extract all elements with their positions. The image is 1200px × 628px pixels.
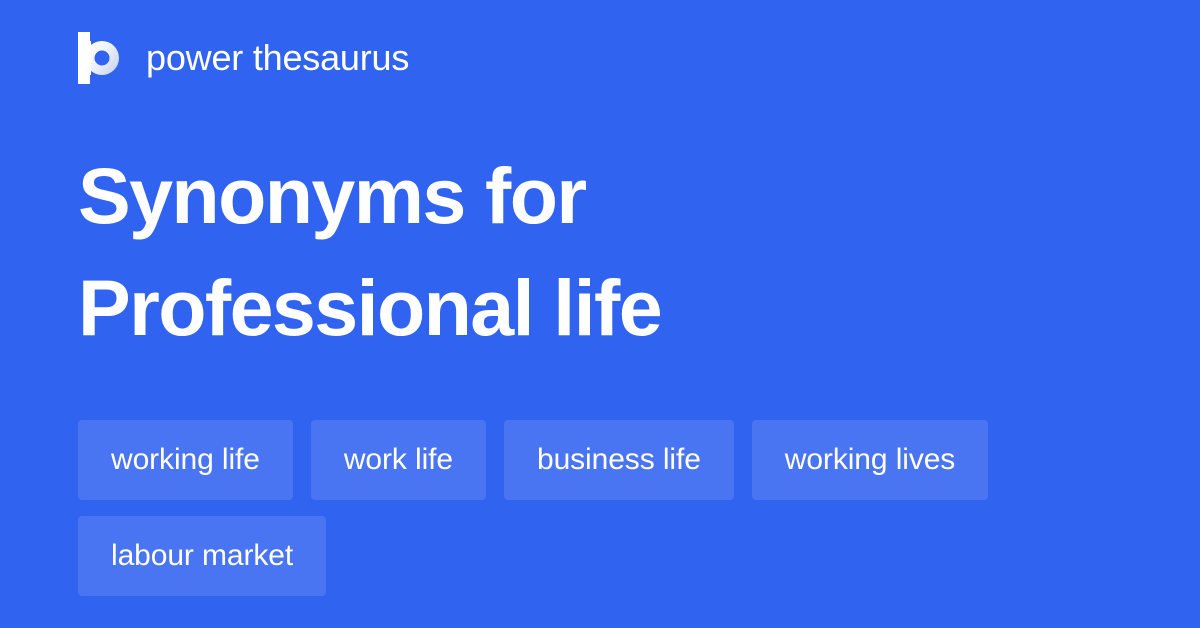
brand-name: power thesaurus (146, 36, 409, 80)
synonym-chip-list: working life work life business life wor… (78, 420, 1118, 596)
power-thesaurus-b-logo-icon (78, 32, 128, 84)
synonym-chip[interactable]: business life (504, 420, 734, 500)
synonym-chip[interactable]: labour market (78, 516, 326, 596)
page-title-line-1: Synonyms for (78, 140, 1118, 252)
synonym-chip[interactable]: work life (311, 420, 486, 500)
page-title: Synonyms for Professional life (78, 140, 1118, 364)
brand-header[interactable]: power thesaurus (78, 26, 409, 90)
social-share-card: power thesaurus Synonyms for Professiona… (0, 0, 1200, 628)
page-title-line-2: Professional life (78, 252, 1118, 364)
synonym-chip[interactable]: working life (78, 420, 293, 500)
synonym-chip[interactable]: working lives (752, 420, 988, 500)
